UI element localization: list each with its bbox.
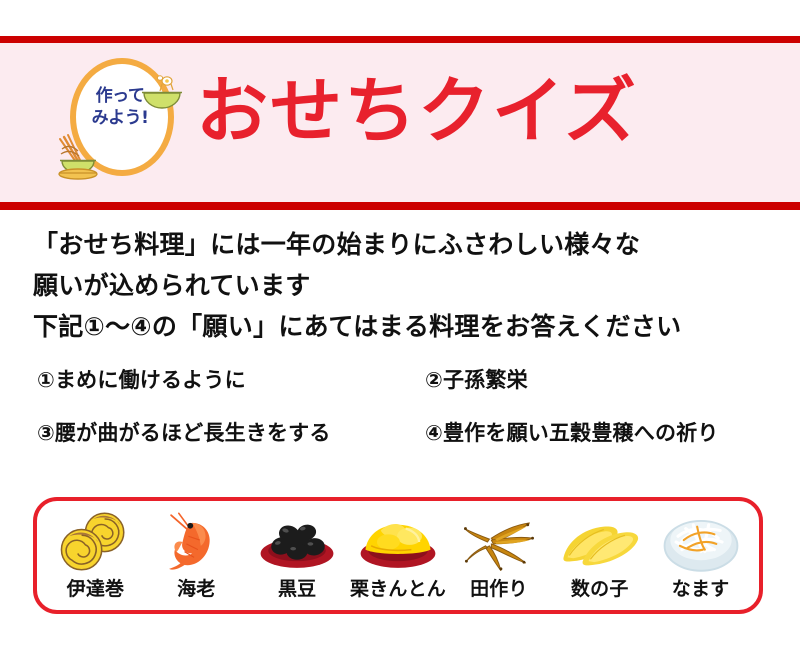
quiz-item-4-text: 豊作を願い五穀豊穣への祈り — [443, 421, 719, 445]
food-label-namasu: なます — [672, 578, 730, 600]
try-making-badge: 作って みよう! — [68, 55, 180, 183]
food-label-kazunoko: 数の子 — [571, 578, 629, 600]
quiz-item-grid: ①まめに働けるように ②子孫繁栄 ③腰が曲がるほど長生きをする ④豊作を願い五穀… — [37, 366, 777, 472]
green-bowl-egg-icon — [140, 75, 184, 115]
kurikinton-dish-icon — [350, 506, 446, 578]
herring-roe-icon — [552, 506, 648, 578]
quiz-item-2-number: ② — [425, 368, 443, 392]
food-options-row: 伊達巻 海老 — [37, 501, 759, 610]
food-label-datemaki: 伊達巻 — [67, 578, 125, 600]
food-label-kurikinton: 栗きんとん — [350, 578, 446, 600]
food-option-namasu[interactable]: なます — [650, 501, 751, 610]
intro-line-2: 願いが込められています — [33, 265, 773, 306]
food-label-shrimp: 海老 — [177, 578, 215, 600]
page-title: おせちクイズ — [196, 63, 638, 159]
bowl-whisk-icon — [56, 127, 108, 181]
food-options-frame: 伊達巻 海老 — [33, 497, 763, 614]
food-option-shrimp[interactable]: 海老 — [146, 501, 247, 610]
intro-line-3: 下記①〜④の「願い」にあてはまる料理をお答えください — [33, 306, 773, 347]
food-option-kurikinton[interactable]: 栗きんとん — [348, 501, 449, 610]
food-label-kuromame: 黒豆 — [278, 578, 316, 600]
quiz-item-1: ①まめに働けるように — [37, 366, 425, 394]
quiz-item-3-text: 腰が曲がるほど長生きをする — [55, 421, 331, 445]
quiz-item-1-number: ① — [37, 368, 55, 392]
food-option-kuromame[interactable]: 黒豆 — [247, 501, 348, 610]
quiz-item-2-text: 子孫繁栄 — [443, 368, 528, 392]
food-option-datemaki[interactable]: 伊達巻 — [45, 501, 146, 610]
header-band: 作って みよう! — [0, 36, 800, 210]
food-label-tazukuri: 田作り — [470, 578, 528, 600]
datemaki-roll-icon — [47, 506, 143, 578]
quiz-item-4-number: ④ — [425, 421, 443, 445]
badge-line-1: 作って — [96, 86, 145, 106]
quiz-row-1: ①まめに働けるように ②子孫繁栄 — [37, 366, 777, 419]
quiz-item-2: ②子孫繁栄 — [425, 366, 777, 394]
shrimp-icon — [148, 506, 244, 578]
food-option-tazukuri[interactable]: 田作り — [448, 501, 549, 610]
intro-line-1: 「おせち料理」には一年の始まりにふさわしい様々な — [33, 224, 773, 265]
quiz-row-2: ③腰が曲がるほど長生きをする ④豊作を願い五穀豊穣への祈り — [37, 419, 777, 472]
quiz-item-1-text: まめに働けるように — [55, 368, 246, 392]
food-option-kazunoko[interactable]: 数の子 — [549, 501, 650, 610]
namasu-bowl-icon — [653, 506, 749, 578]
quiz-item-3-number: ③ — [37, 421, 55, 445]
intro-paragraph: 「おせち料理」には一年の始まりにふさわしい様々な 願いが込められています 下記①… — [33, 224, 773, 347]
black-beans-dish-icon — [249, 506, 345, 578]
quiz-item-3: ③腰が曲がるほど長生きをする — [37, 419, 425, 447]
dried-sardines-icon — [451, 506, 547, 578]
quiz-item-4: ④豊作を願い五穀豊穣への祈り — [425, 419, 777, 447]
